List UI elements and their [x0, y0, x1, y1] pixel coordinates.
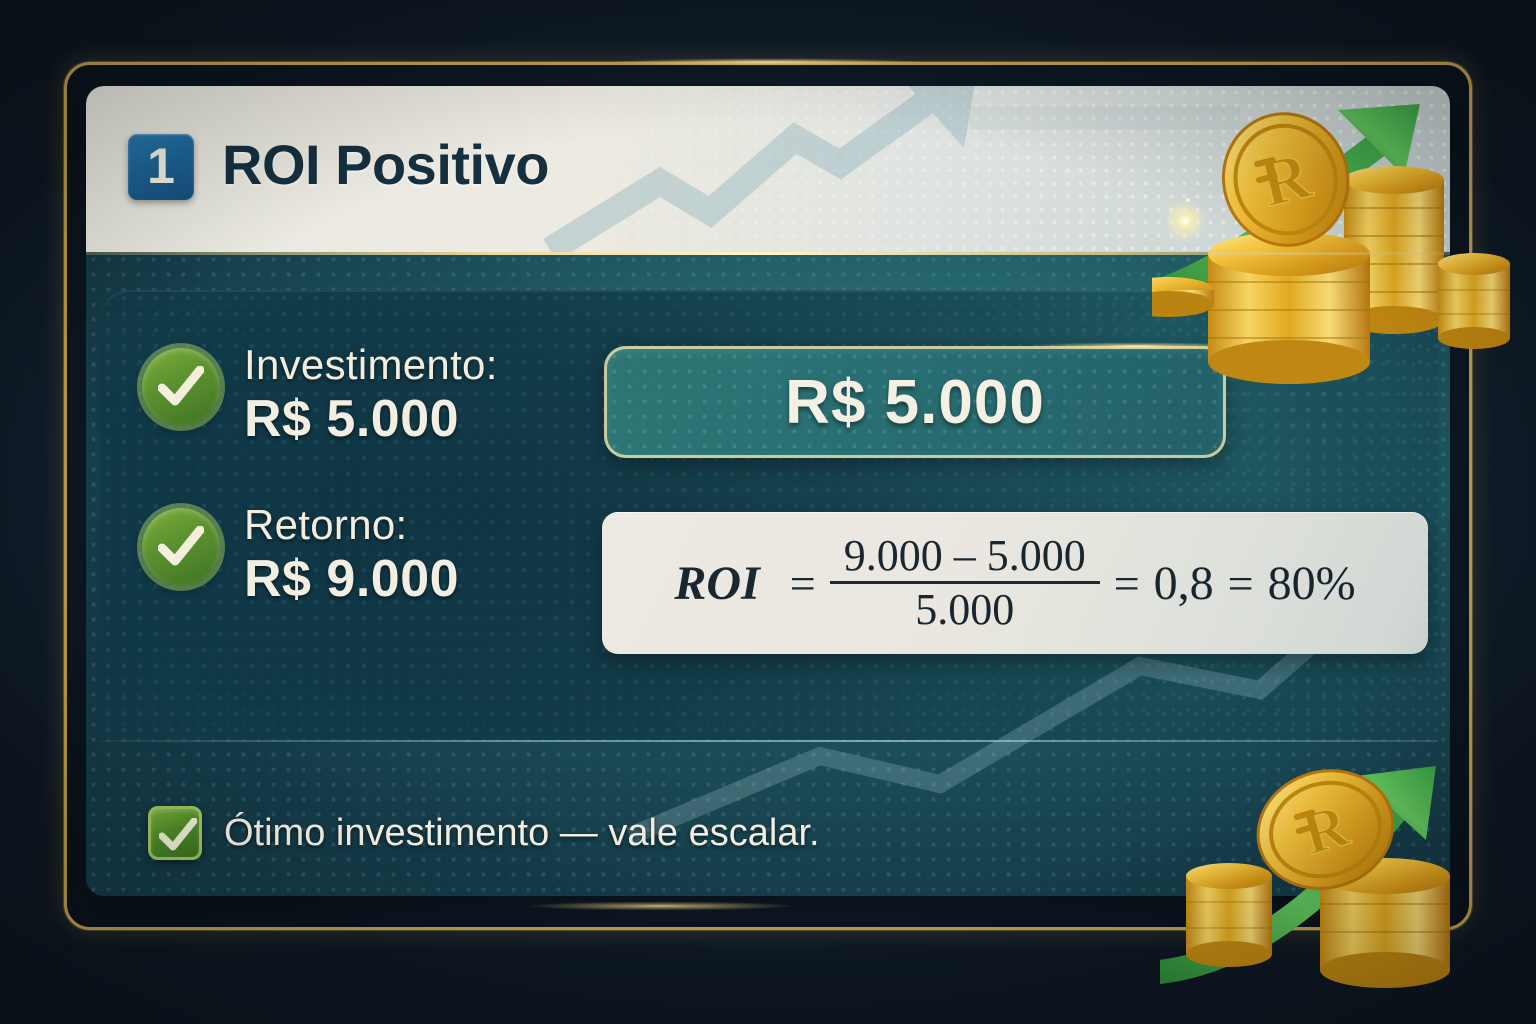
formula-denominator: 5.000: [901, 584, 1028, 633]
card-header: 1 ROI Positivo: [86, 86, 1450, 252]
metric-text-group: Investimento: R$ 5.000: [244, 342, 498, 448]
roi-card: 1 ROI Positivo: [86, 86, 1450, 896]
formula-decimal-result: 0,8: [1154, 556, 1214, 611]
header-gold-rule: [86, 252, 1450, 255]
metric-row-investimento: Investimento: R$ 5.000: [142, 342, 498, 448]
roi-formula: ROI = 9.000 – 5.000 5.000 = 0,8 = 80%: [674, 534, 1355, 633]
highlight-value-panel: R$ 5.000: [604, 346, 1226, 458]
formula-roi-label: ROI: [674, 556, 759, 611]
metric-label: Investimento:: [244, 342, 498, 387]
step-number-badge: 1: [128, 134, 194, 200]
page-title: ROI Positivo: [222, 132, 549, 197]
footer-note: Ótimo investimento — vale escalar.: [148, 806, 820, 860]
highlight-value-text: R$ 5.000: [785, 367, 1045, 438]
formula-percent-result: 80%: [1268, 556, 1356, 611]
formula-fraction: 9.000 – 5.000 5.000: [830, 534, 1100, 633]
metric-label: Retorno:: [244, 502, 459, 547]
metric-value: R$ 9.000: [244, 551, 459, 607]
formula-equals-3: =: [1228, 557, 1254, 610]
metric-text-group: Retorno: R$ 9.000: [244, 502, 459, 608]
metric-row-retorno: Retorno: R$ 9.000: [142, 502, 459, 608]
formula-numerator: 9.000 – 5.000: [830, 534, 1100, 581]
footer-note-text: Ótimo investimento — vale escalar.: [224, 812, 820, 855]
check-circle-icon: [142, 348, 220, 426]
poster-canvas: 1 ROI Positivo Investimento: R: [0, 0, 1536, 1024]
formula-equals-1: =: [790, 557, 816, 610]
check-circle-icon: [142, 508, 220, 586]
panel-divider: [100, 740, 1438, 742]
metric-value: R$ 5.000: [244, 391, 498, 447]
formula-equals-2: =: [1114, 557, 1140, 610]
formula-panel: ROI = 9.000 – 5.000 5.000 = 0,8 = 80%: [602, 512, 1428, 654]
check-square-icon: [148, 806, 202, 860]
